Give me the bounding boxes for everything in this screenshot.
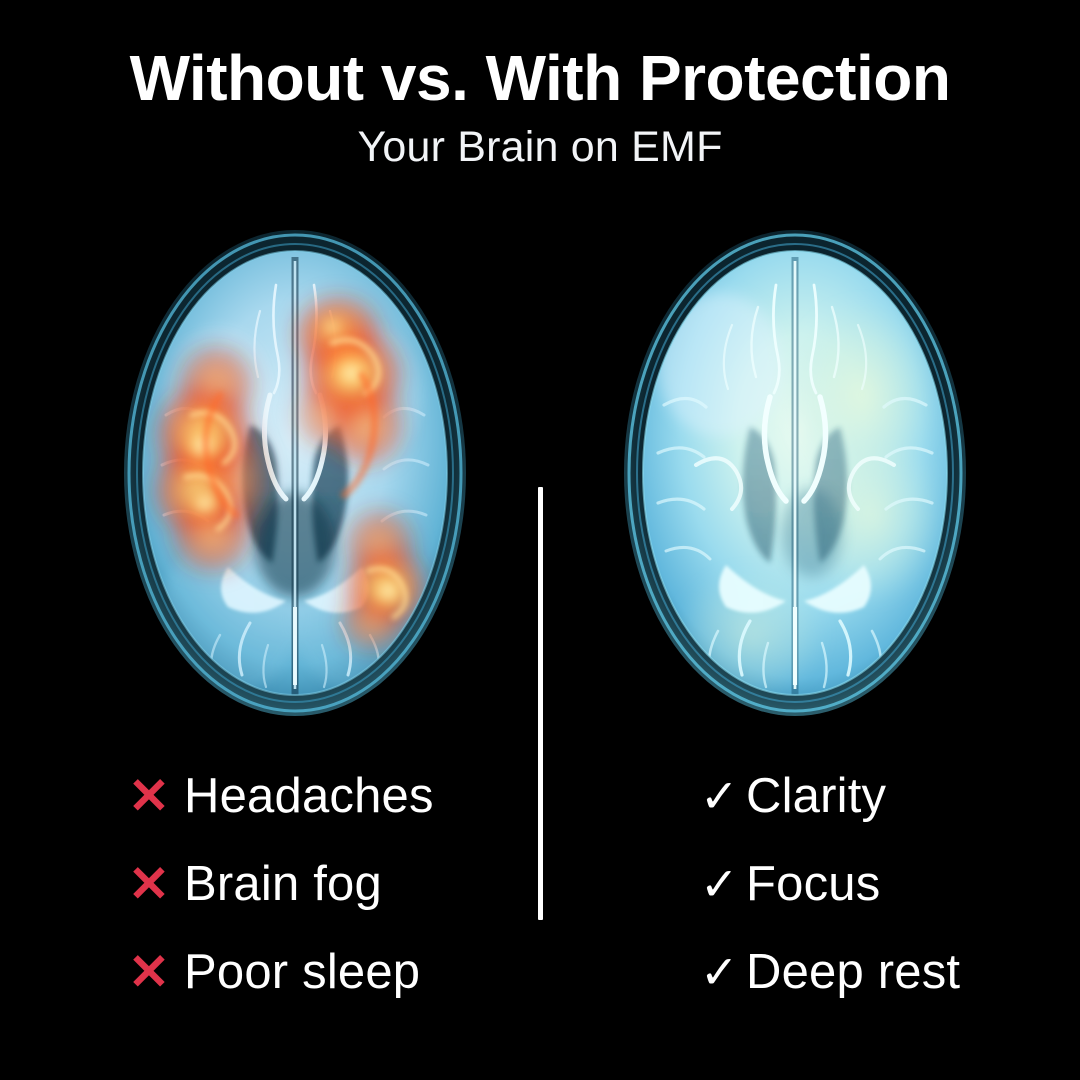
list-item: ✓ Clarity bbox=[700, 752, 960, 840]
benefit-list: ✓ Clarity ✓ Focus ✓ Deep rest bbox=[700, 752, 960, 1016]
check-icon: ✓ bbox=[700, 773, 746, 819]
list-item-label: Poor sleep bbox=[184, 944, 420, 1000]
check-icon: ✓ bbox=[700, 861, 746, 907]
check-icon: ✓ bbox=[700, 949, 746, 995]
comparison-lists: ✕ Headaches ✕ Brain fog ✕ Poor sleep ✓ C… bbox=[0, 752, 1080, 1052]
brain-scan-unprotected bbox=[100, 215, 490, 725]
list-item: ✕ Poor sleep bbox=[128, 928, 434, 1016]
brain-scan-protected bbox=[600, 215, 990, 725]
list-item-label: Brain fog bbox=[184, 856, 382, 912]
list-item: ✓ Deep rest bbox=[700, 928, 960, 1016]
list-item-label: Headaches bbox=[184, 768, 434, 824]
cross-icon: ✕ bbox=[128, 859, 184, 909]
page-subtitle: Your Brain on EMF bbox=[0, 110, 1080, 169]
list-item: ✓ Focus bbox=[700, 840, 960, 928]
cross-icon: ✕ bbox=[128, 771, 184, 821]
list-item: ✕ Headaches bbox=[128, 752, 434, 840]
cross-icon: ✕ bbox=[128, 947, 184, 997]
symptom-list: ✕ Headaches ✕ Brain fog ✕ Poor sleep bbox=[128, 752, 434, 1016]
poster-canvas: Without vs. With Protection Your Brain o… bbox=[0, 0, 1080, 1080]
list-item-label: Clarity bbox=[746, 768, 886, 824]
list-item-label: Focus bbox=[746, 856, 880, 912]
header: Without vs. With Protection Your Brain o… bbox=[0, 0, 1080, 169]
scan-comparison bbox=[0, 215, 1080, 725]
page-title: Without vs. With Protection bbox=[0, 0, 1080, 110]
list-item: ✕ Brain fog bbox=[128, 840, 434, 928]
list-item-label: Deep rest bbox=[746, 944, 960, 1000]
